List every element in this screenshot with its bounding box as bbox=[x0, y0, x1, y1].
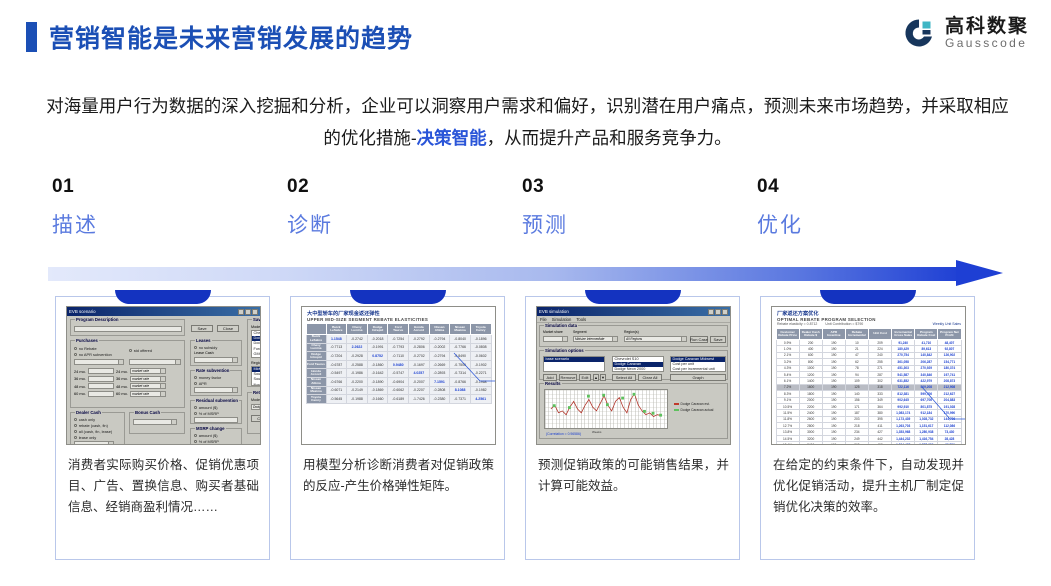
menu-item-simulation[interactable]: Simulation bbox=[552, 317, 572, 322]
group-msrp-change: MSRP change amount ($) % of MSRP bbox=[190, 428, 242, 445]
step-label: 描述 bbox=[52, 209, 252, 239]
column-header: Unit Cost bbox=[869, 329, 892, 340]
radio-icon bbox=[74, 436, 77, 439]
lease-cash-select[interactable] bbox=[194, 357, 238, 363]
radio-icon bbox=[194, 412, 197, 415]
cell: -0.1660 bbox=[367, 395, 388, 404]
legend-label: Dodge Caravan actual bbox=[681, 408, 714, 412]
list-item[interactable]: Cost per incremental unit bbox=[671, 367, 725, 372]
term-rate-value: market rate bbox=[132, 377, 149, 381]
chevron-down-icon bbox=[118, 360, 123, 364]
cell: -0.2742 bbox=[347, 335, 368, 344]
step-label: 优化 bbox=[757, 209, 957, 239]
radio-label: lease only bbox=[79, 435, 97, 440]
radio-label: no APR subvention bbox=[79, 352, 112, 357]
run-case-button[interactable]: Run Case bbox=[690, 336, 708, 343]
remove-button[interactable]: Remove bbox=[559, 374, 577, 381]
group-bonus-cash: Bonus Cash bbox=[129, 412, 185, 434]
table-header-row: Customer Rebate Price Dealer Cash Rebate… bbox=[776, 329, 961, 340]
card-predict[interactable]: EVB simulation File Simulation Tools Si bbox=[525, 296, 740, 560]
rebate-meta-right: Weekly Unit Sales bbox=[933, 322, 961, 326]
lease-cash-label: Lease Cash bbox=[194, 351, 214, 355]
radio-label: money factor bbox=[199, 375, 222, 380]
cell: 1,557,286 bbox=[915, 442, 938, 445]
rate-value-select[interactable] bbox=[194, 387, 238, 393]
group-label: MSRP change bbox=[195, 426, 226, 431]
intro-paragraph-highlight: 决策智能 bbox=[417, 128, 487, 148]
group-label: Simulation data bbox=[544, 323, 578, 328]
regions-label: Region(s) bbox=[624, 330, 639, 334]
radio-label: no Rebate bbox=[79, 346, 97, 351]
row-header: Nissan Altima bbox=[306, 377, 326, 386]
cell: -0.2702 bbox=[409, 352, 430, 361]
cell: -0.1991 bbox=[367, 343, 388, 352]
move-up-icon[interactable]: ▲ bbox=[593, 374, 599, 381]
row-header: Ford Taurus bbox=[306, 360, 326, 369]
rebate-table-body: 0.9%2001901020991,24041,71048,4071.0%400… bbox=[776, 340, 961, 446]
menu-item-tools[interactable]: Tools bbox=[576, 317, 586, 322]
close-icon bbox=[722, 309, 728, 315]
cell: -0.1902 bbox=[470, 360, 491, 369]
radio-label: % of MSRP bbox=[199, 439, 219, 444]
graph-button[interactable]: Graph bbox=[670, 374, 726, 381]
table-header-row: Buick LeSabre Chevy Lumina Dodge Intrepi… bbox=[306, 324, 491, 335]
cell: -0.1890 bbox=[367, 377, 388, 386]
cell: -0.1869 bbox=[367, 386, 388, 395]
window-title-text: EVB scenario bbox=[69, 309, 96, 314]
card-tab-indicator bbox=[820, 290, 916, 304]
radio-all-cash-fin-lease[interactable]: all (cash, fin, lease) bbox=[74, 429, 112, 434]
radio-icon bbox=[194, 382, 197, 385]
term-rate-value: market rate bbox=[132, 369, 149, 373]
column-header: Honda Accord bbox=[409, 324, 430, 335]
group-label: Bonus Cash bbox=[134, 410, 161, 415]
term-rate-value: market rate bbox=[132, 384, 149, 388]
column-header: Dealer Cash Rebate $ bbox=[799, 329, 822, 340]
radio-std-offered[interactable]: std offered bbox=[129, 348, 152, 353]
group-label: Results bbox=[544, 381, 562, 386]
row-header: Honda Accord bbox=[306, 369, 326, 378]
radio-msrp-amount[interactable]: amount ($) bbox=[194, 433, 218, 438]
brand-name-en: Gausscode bbox=[945, 37, 1029, 50]
cell: -0.2669 bbox=[429, 360, 450, 369]
slide-root: 营销智能是未来营销发展的趋势 高科数聚 Gausscode 对海量用户行为数据的… bbox=[0, 0, 1051, 586]
radio-rebate-cash-fin[interactable]: rebate (cash, fin) bbox=[74, 423, 108, 428]
purchase-amount-select[interactable] bbox=[74, 359, 124, 365]
term-rate-value: market rate bbox=[132, 392, 149, 396]
window-titlebar: EVB simulation bbox=[537, 307, 730, 316]
retrieve-model-label: Model bbox=[251, 398, 261, 402]
group-label: Simulation options bbox=[544, 348, 585, 353]
cell: -0.1988 bbox=[347, 395, 368, 404]
screenshot-elasticity-matrix: 大中型轿车的厂家现金返还弹性 UPPER MID-SIZE SEGMENT RE… bbox=[301, 306, 496, 445]
cell: -0.5645 bbox=[326, 395, 347, 404]
step-number: 01 bbox=[52, 176, 252, 198]
card-caption: 消费者实际购买价格、促销优惠项目、广告、置换信息、购买者基础信息、经销商盈利情况… bbox=[68, 455, 259, 518]
options-listbox[interactable]: Dodge Caravan Midwest Cost per unit Cost… bbox=[670, 356, 726, 372]
term-label: 60 mo. bbox=[74, 391, 86, 396]
group-label: Residual subvention bbox=[195, 398, 239, 403]
cell: -22,789 bbox=[938, 442, 961, 445]
cell: -0.1697 bbox=[409, 360, 430, 369]
group-label: Save incentives bbox=[252, 317, 261, 322]
chevron-down-icon bbox=[232, 358, 237, 362]
chevron-down-icon bbox=[171, 420, 176, 424]
segment-value: Midsize Intermediate bbox=[575, 337, 604, 341]
row-header: Dodge Intrepid bbox=[306, 352, 326, 361]
radio-icon bbox=[194, 376, 197, 379]
table-row: 15.4%34001902654581,534,4971,557,286-22,… bbox=[776, 442, 961, 445]
cell: 4.2561 bbox=[470, 395, 491, 404]
term-rate-select[interactable]: market rate bbox=[130, 391, 166, 397]
cell: -0.7314 bbox=[450, 369, 471, 378]
cell: -0.2018 bbox=[367, 335, 388, 344]
card-list: EVB scenario Program Description Save bbox=[0, 296, 1051, 564]
group-dealer-cash: Dealer Cash cash only rebate (cash, fin)… bbox=[70, 412, 125, 445]
column-header: Customer Rebate Price bbox=[776, 329, 799, 340]
select-all-button[interactable]: Select All bbox=[612, 374, 636, 381]
legend-swatch-icon bbox=[674, 403, 679, 405]
model-listbox[interactable]: Chevrolet S10 Dodge Caravan Dodge Neon 2… bbox=[612, 356, 664, 372]
column-header: Nissan Maxima bbox=[450, 324, 471, 335]
brand-logo-text: 高科数聚 Gausscode bbox=[945, 17, 1029, 50]
table-row: Dodge Intrepid-0.7204-0.29280.8752-0.711… bbox=[306, 352, 491, 361]
segment-select[interactable]: Midsize Intermediate bbox=[573, 336, 618, 342]
elasticity-matrix-table: Buick LeSabre Chevy Lumina Dodge Intrepi… bbox=[306, 323, 492, 404]
table-corner-cell bbox=[306, 324, 326, 335]
cell: -0.0602 bbox=[470, 352, 491, 361]
brand-logo: 高科数聚 Gausscode bbox=[902, 16, 1029, 50]
card-caption: 预测促销政策的可能销售结果，并计算可能效益。 bbox=[538, 455, 729, 497]
cell: -0.2794 bbox=[429, 352, 450, 361]
chevron-down-icon bbox=[681, 337, 686, 341]
window-body: Program Description Save Close Purchases… bbox=[67, 316, 260, 444]
row-header: Buick LeSabre bbox=[306, 335, 326, 344]
chevron-down-icon bbox=[160, 377, 165, 381]
radio-icon bbox=[129, 349, 132, 352]
group-label: Leases bbox=[195, 338, 212, 343]
card-describe[interactable]: EVB scenario Program Description Save bbox=[55, 296, 270, 560]
card-optimize[interactable]: 厂家返还方案优化 OPTIMAL REBATE PROGRAM SELECTIO… bbox=[760, 296, 975, 560]
group-label: Retrieve incentives bbox=[252, 390, 261, 395]
cell: -0.2007 bbox=[409, 377, 430, 386]
maximize-icon bbox=[245, 309, 251, 315]
group-label: Dealer Cash bbox=[75, 410, 102, 415]
scenario-name-input[interactable] bbox=[74, 326, 182, 332]
group-rate-subvention: Rate subvention money factor APR bbox=[190, 370, 242, 396]
regions-label: Region(s) bbox=[251, 361, 261, 365]
term-value-input[interactable] bbox=[88, 391, 114, 397]
table-row: Nissan Altima-0.6766-0.2200-0.1890-0.690… bbox=[306, 377, 491, 386]
segment-label: Segment bbox=[573, 330, 587, 334]
group-residual-subvention: Residual subvention amount ($) % of MSRP bbox=[190, 400, 242, 424]
cell: -0.7500 bbox=[450, 360, 471, 369]
bonus-cash-select[interactable] bbox=[133, 419, 177, 425]
table-row: Honda Accord-0.5497-0.1986-0.1642-0.5747… bbox=[306, 369, 491, 378]
legend-swatch-icon bbox=[674, 409, 679, 411]
cell: -0.2149 bbox=[347, 386, 368, 395]
term-label: 36 mo. bbox=[74, 376, 86, 381]
term-rate-select[interactable]: market rate bbox=[130, 376, 166, 382]
card-tab-indicator bbox=[350, 290, 446, 304]
close-icon bbox=[252, 309, 258, 315]
clear-button[interactable]: Clear bbox=[251, 415, 261, 422]
term-value-input[interactable] bbox=[88, 383, 114, 389]
cell: -0.5747 bbox=[388, 369, 409, 378]
cell: -0.2928 bbox=[347, 352, 368, 361]
market-share-label: Market share bbox=[543, 330, 563, 334]
cell: -0.2002 bbox=[429, 343, 450, 352]
cell: -0.2792 bbox=[409, 335, 430, 344]
edit-button[interactable]: Edit bbox=[579, 374, 591, 381]
radio-label: std offered bbox=[134, 348, 152, 353]
term-row: 24 mo. 24 mo. market rate bbox=[74, 368, 184, 374]
chart-actual-points bbox=[553, 393, 662, 417]
radio-label: cash only bbox=[79, 417, 95, 422]
radio-lease-only[interactable]: lease only bbox=[74, 435, 96, 440]
cell: 190 bbox=[822, 442, 845, 445]
arrow-shaft bbox=[48, 267, 963, 281]
window-controls bbox=[238, 309, 258, 315]
group-simulation-data: Simulation data Market share Segment Mid… bbox=[539, 325, 728, 347]
cell: 3400 bbox=[799, 442, 822, 445]
cell: 265 bbox=[845, 442, 868, 445]
save-button[interactable]: Save bbox=[191, 325, 213, 332]
group-label: Purchases bbox=[75, 338, 99, 343]
cell: -0.1986 bbox=[347, 369, 368, 378]
cell: -0.7793 bbox=[388, 343, 409, 352]
cell: 0.9480 bbox=[388, 360, 409, 369]
row-header: Chevy Lumina bbox=[306, 343, 326, 352]
radio-no-rebate[interactable]: no Rebate bbox=[74, 346, 97, 351]
gausscode-logo-icon bbox=[902, 16, 936, 50]
minimize-icon bbox=[238, 309, 244, 315]
term-rows: 24 mo. 24 mo. market rate 36 mo. 36 mo. … bbox=[74, 368, 184, 397]
slide-header: 营销智能是未来营销发展的趋势 高科数聚 Gausscode bbox=[0, 0, 1051, 78]
screenshot-scenario-form: EVB scenario Program Description Save bbox=[66, 306, 261, 445]
list-item[interactable]: base scenario bbox=[544, 357, 604, 362]
rebate-meta-row: Rebate elasticity = 0.8712 Unit Contribu… bbox=[772, 322, 965, 327]
cell: -0.2806 bbox=[409, 343, 430, 352]
chart-series bbox=[545, 390, 667, 428]
elasticity-table-wrap: 大中型轿车的厂家现金返还弹性 UPPER MID-SIZE SEGMENT RE… bbox=[302, 307, 495, 444]
cell: -0.1968 bbox=[470, 377, 491, 386]
cell: -0.2893 bbox=[429, 369, 450, 378]
step-item-04: 04 优化 bbox=[757, 176, 957, 239]
term-value-input[interactable] bbox=[88, 376, 114, 382]
cell: -0.2271 bbox=[470, 369, 491, 378]
step-number: 04 bbox=[757, 176, 957, 198]
radio-icon bbox=[74, 418, 77, 421]
chart-legend: Dodge Caravan est. Dodge Caravan actual bbox=[674, 402, 713, 412]
table-row: Toyota Camry-0.5645-0.1988-0.1660-0.6189… bbox=[306, 395, 491, 404]
rebate-meta-mid: Unit Contribution = $790 bbox=[825, 322, 863, 326]
cell: -0.1896 bbox=[470, 335, 491, 344]
group-leases: Leases no subsidy Lease Cash bbox=[190, 340, 242, 366]
cell: -0.7713 bbox=[326, 343, 347, 352]
term-rate-select[interactable]: market rate bbox=[130, 383, 166, 389]
radio-residual-amount[interactable]: amount ($) bbox=[194, 405, 218, 410]
close-button[interactable]: Close bbox=[217, 325, 239, 332]
column-header: Ford Taurus bbox=[388, 324, 409, 335]
minimize-icon bbox=[708, 309, 714, 315]
chevron-down-icon bbox=[562, 337, 567, 341]
residual-value-input[interactable] bbox=[194, 417, 238, 423]
column-header: Nissan Altima bbox=[429, 324, 450, 335]
elasticity-title-en: UPPER MID-SIZE SEGMENT REBATE ELASTICITI… bbox=[302, 317, 495, 322]
column-header: Chevy Lumina bbox=[347, 324, 368, 335]
list-item[interactable]: GMC Sonoma bbox=[252, 352, 261, 357]
move-down-icon[interactable]: ▼ bbox=[600, 374, 606, 381]
card-diagnose[interactable]: 大中型轿车的厂家现金返还弹性 UPPER MID-SIZE SEGMENT RE… bbox=[290, 296, 505, 560]
retrieve-model-select[interactable]: Dodge Caravan bbox=[251, 404, 261, 410]
term-label-2: 60 mo. bbox=[116, 391, 128, 396]
cell: -0.6071 bbox=[326, 386, 347, 395]
term-label: 48 mo. bbox=[74, 384, 86, 389]
list-item[interactable]: Dodge Neon 2000 bbox=[613, 367, 663, 372]
cell: -0.7110 bbox=[388, 352, 409, 361]
arrow-head-icon bbox=[956, 260, 1003, 286]
radio-no-apr[interactable]: no APR subvention bbox=[74, 352, 112, 357]
cell: -0.2808 bbox=[429, 386, 450, 395]
chevron-down-icon bbox=[232, 388, 237, 392]
group-retrieve-incentives: Retrieve incentives Model Region Dodge C… bbox=[247, 392, 261, 434]
cell: -0.6189 bbox=[388, 395, 409, 404]
radio-no-subsidy[interactable]: no subsidy bbox=[194, 345, 217, 350]
table-row: Ford Taurus-0.6787-0.2588-0.18600.9480-0… bbox=[306, 360, 491, 369]
table-row: Buick LeSabre1.1548-0.2742-0.2018-0.7254… bbox=[306, 335, 491, 344]
column-header: Program Net Profit bbox=[938, 329, 961, 340]
menu-item-file[interactable]: File bbox=[540, 317, 547, 322]
row-header: Toyota Camry bbox=[306, 395, 326, 404]
step-label: 预测 bbox=[522, 209, 722, 239]
list-item[interactable]: Northeast bbox=[252, 383, 261, 386]
cell: 2.2622 bbox=[347, 343, 368, 352]
group-label: Rate subvention bbox=[195, 368, 230, 373]
radio-icon bbox=[194, 346, 197, 349]
radio-icon bbox=[74, 430, 77, 433]
purchase-type-select[interactable] bbox=[129, 359, 181, 365]
cell: -0.2200 bbox=[347, 377, 368, 386]
cell: 7.1591 bbox=[429, 377, 450, 386]
column-header: Rebate Incremental bbox=[845, 329, 868, 340]
models-label: Model(s) bbox=[251, 325, 261, 329]
radio-label: rebate (cash, fin) bbox=[79, 423, 108, 428]
radio-money-factor[interactable]: money factor bbox=[194, 375, 221, 380]
group-label: Program Description bbox=[75, 317, 120, 322]
card-tab-indicator bbox=[585, 290, 681, 304]
chevron-down-icon bbox=[160, 384, 165, 388]
radio-residual-pct[interactable]: % of MSRP bbox=[194, 411, 219, 416]
term-row: 60 mo. 60 mo. market rate bbox=[74, 391, 184, 397]
step-list: 01 描述 02 诊断 03 预测 04 优化 bbox=[52, 176, 1012, 246]
radio-label: amount ($) bbox=[199, 433, 218, 438]
radio-icon bbox=[194, 434, 197, 437]
cell: -0.6062 bbox=[388, 386, 409, 395]
radio-label: % of MSRP bbox=[199, 411, 219, 416]
table-row: Nissan Maxima-0.6071-0.2149-0.1869-0.606… bbox=[306, 386, 491, 395]
radio-msrp-pct[interactable]: % of MSRP bbox=[194, 439, 219, 444]
screenshot-simulation: EVB simulation File Simulation Tools Si bbox=[536, 306, 731, 445]
legend-item: Dodge Caravan actual bbox=[674, 408, 713, 412]
chevron-down-icon bbox=[612, 337, 617, 341]
group-program-description: Program Description bbox=[70, 319, 185, 336]
chart-xaxis-label: Weeks bbox=[592, 430, 601, 434]
radio-label: APR bbox=[199, 381, 207, 386]
brand-name-cn: 高科数聚 bbox=[945, 17, 1029, 37]
rebate-table-wrap: 厂家返还方案优化 OPTIMAL REBATE PROGRAM SELECTIO… bbox=[772, 307, 965, 444]
step-label: 诊断 bbox=[287, 209, 487, 239]
cell: 8.1088 bbox=[450, 386, 471, 395]
cell: 458 bbox=[869, 442, 892, 445]
screenshot-rebate-table: 厂家返还方案优化 OPTIMAL REBATE PROGRAM SELECTIO… bbox=[771, 306, 966, 445]
column-header: Buick LeSabre bbox=[326, 324, 347, 335]
column-header: Dodge Intrepid bbox=[367, 324, 388, 335]
cell: -0.6787 bbox=[326, 360, 347, 369]
table-row: Chevy Lumina-0.77132.2622-0.1991-0.7793-… bbox=[306, 343, 491, 352]
column-header: APR Incentive bbox=[822, 329, 845, 340]
group-simulation-options: Simulation options base scenario Add Rem… bbox=[539, 350, 728, 380]
cell: -0.2380 bbox=[429, 395, 450, 404]
term-rate-select[interactable]: market rate bbox=[130, 368, 166, 374]
window-body: Simulation data Market share Segment Mid… bbox=[537, 323, 730, 444]
maximize-icon bbox=[715, 309, 721, 315]
title-accent-bar bbox=[26, 22, 37, 52]
column-header: Incremental Gross Sales bbox=[892, 329, 915, 340]
regions-select[interactable]: All Regions bbox=[624, 336, 687, 342]
cell: 0.8752 bbox=[367, 352, 388, 361]
term-label-2: 48 mo. bbox=[116, 384, 128, 389]
radio-cash-only[interactable]: cash only bbox=[74, 417, 95, 422]
rebate-title-cn: 厂家返还方案优化 bbox=[772, 307, 965, 317]
step-item-02: 02 诊断 bbox=[287, 176, 487, 239]
radio-icon bbox=[74, 353, 77, 356]
window-controls bbox=[708, 309, 728, 315]
scenario-listbox[interactable]: base scenario bbox=[543, 356, 605, 372]
radio-icon bbox=[74, 347, 77, 350]
radio-label: no subsidy bbox=[199, 345, 218, 350]
market-share-select[interactable] bbox=[543, 336, 568, 342]
intro-paragraph-part2: ，从而提升产品和服务竞争力。 bbox=[487, 128, 732, 148]
cell: 1,534,497 bbox=[892, 442, 915, 445]
cell: -0.5497 bbox=[326, 369, 347, 378]
cell: -0.1642 bbox=[367, 369, 388, 378]
card-tab-indicator bbox=[115, 290, 211, 304]
clear-all-button[interactable]: Clear All bbox=[638, 374, 662, 381]
retrieve-model-value: Dodge Caravan bbox=[253, 405, 261, 409]
step-item-03: 03 预测 bbox=[522, 176, 722, 239]
save-button[interactable]: Save bbox=[710, 336, 726, 343]
cell: -0.7371 bbox=[450, 395, 471, 404]
term-value-input[interactable] bbox=[88, 368, 114, 374]
cell: -0.6766 bbox=[326, 377, 347, 386]
cell: -0.0808 bbox=[470, 343, 491, 352]
step-number: 02 bbox=[287, 176, 487, 198]
step-item-01: 01 描述 bbox=[52, 176, 252, 239]
page-title-text: 营销智能是未来营销发展的趋势 bbox=[49, 19, 413, 55]
cell: -0.8040 bbox=[450, 335, 471, 344]
model-listbox[interactable]: Chevrolet S10 Dodge Caravan Dodge Neon 2… bbox=[251, 330, 261, 358]
radio-label: amount ($) bbox=[199, 405, 218, 410]
radio-icon bbox=[194, 440, 197, 443]
region-listbox[interactable]: Midwest Southeast Southwest Northeast bbox=[251, 366, 261, 386]
chevron-down-icon bbox=[175, 360, 180, 364]
radio-apr[interactable]: APR bbox=[194, 381, 207, 386]
card-caption: 在给定的约束条件下，自动发现并优化促销活动，提升主机厂制定促销优化决策的效率。 bbox=[773, 455, 964, 518]
cell: -0.2588 bbox=[347, 360, 368, 369]
cell: -0.2207 bbox=[409, 386, 430, 395]
dealer-cash-select[interactable] bbox=[74, 441, 114, 445]
